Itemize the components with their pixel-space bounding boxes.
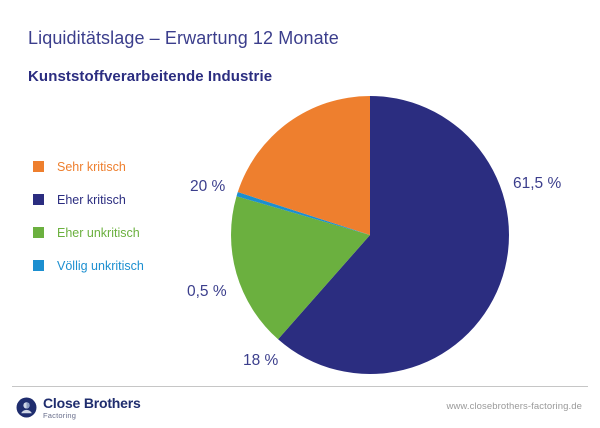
legend-item-eher-unkritisch[interactable]: Eher unkritisch	[33, 216, 223, 249]
legend-swatch-icon	[33, 194, 44, 205]
legend-swatch-icon	[33, 161, 44, 172]
pie-chart	[231, 96, 509, 374]
legend-item-label: Völlig unkritisch	[57, 259, 144, 273]
logo-text-block: Close Brothers Factoring	[43, 396, 141, 420]
footer-divider	[12, 386, 588, 387]
website-url: www.closebrothers-factoring.de	[446, 401, 582, 412]
legend-item-label: Eher kritisch	[57, 193, 126, 207]
legend-item-label: Eher unkritisch	[57, 226, 140, 240]
chart-legend: Sehr kritisch Eher kritisch Eher unkriti…	[33, 150, 223, 282]
close-brothers-logo[interactable]: Close Brothers Factoring	[16, 396, 141, 420]
pie-value-label-eher-unkritisch: 18 %	[243, 352, 278, 370]
legend-swatch-icon	[33, 260, 44, 271]
pie-value-label-voellig-unkritisch: 0,5 %	[187, 283, 227, 301]
legend-item-voellig-unkritisch[interactable]: Völlig unkritisch	[33, 249, 223, 282]
logo-tagline: Factoring	[43, 412, 141, 420]
pie-slice-group	[231, 96, 509, 374]
page-title: Liquiditätslage – Erwartung 12 Monate	[28, 28, 339, 49]
logo-name: Close Brothers	[43, 396, 141, 410]
page-subtitle: Kunststoffverarbeitende Industrie	[28, 68, 272, 85]
pie-value-label-sehr-kritisch: 20 %	[190, 178, 225, 196]
legend-item-label: Sehr kritisch	[57, 160, 126, 174]
legend-swatch-icon	[33, 227, 44, 238]
slide-canvas: Liquiditätslage – Erwartung 12 Monate Ku…	[0, 0, 600, 428]
pie-chart-svg	[231, 96, 509, 374]
pie-value-label-eher-kritisch: 61,5 %	[513, 175, 561, 193]
close-brothers-mark-icon	[16, 397, 37, 418]
